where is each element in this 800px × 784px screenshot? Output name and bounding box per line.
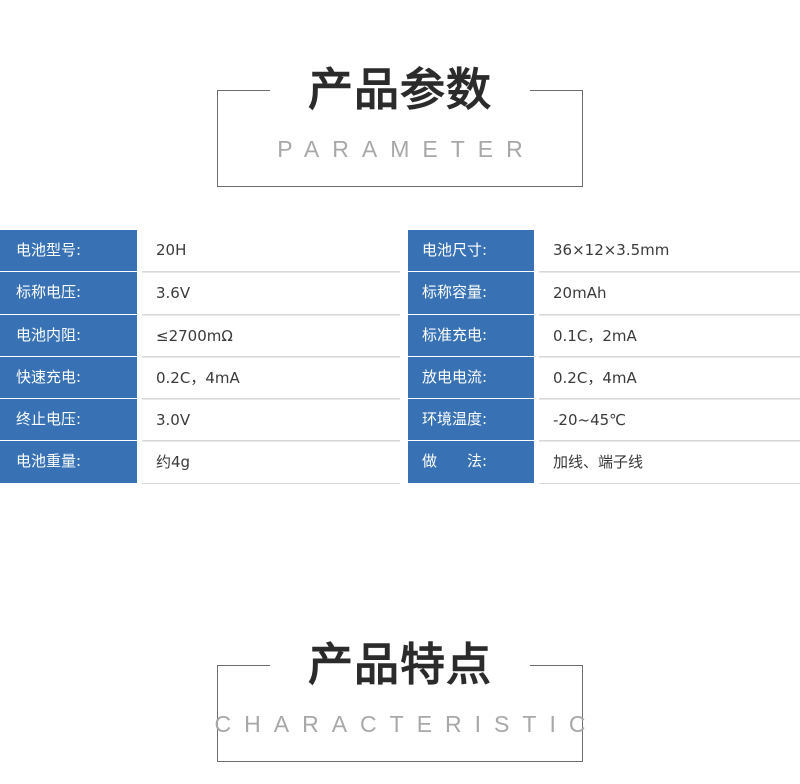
param-label: 电池尺寸: [408, 230, 534, 272]
param-value: 36×12×3.5mm [539, 230, 800, 272]
param-label: 电池重量: [0, 441, 137, 483]
param-label: 电池内阻: [0, 315, 137, 357]
param-value: 20mAh [539, 272, 800, 314]
param-label: 标称容量: [408, 272, 534, 314]
param-value: 3.0V [142, 399, 400, 441]
parameter-table: 电池型号: 20H 电池尺寸: 36×12×3.5mm 标称电压: 3.6V 标… [0, 230, 800, 484]
param-label: 做 法: [408, 441, 534, 483]
table-cell-pair-left: 标称电压: 3.6V [0, 272, 400, 314]
table-cell-pair-left: 电池重量: 约4g [0, 441, 400, 483]
table-row: 快速充电: 0.2C，4mA 放电电流: 0.2C，4mA [0, 357, 800, 399]
table-row: 标称电压: 3.6V 标称容量: 20mAh [0, 272, 800, 314]
table-cell-pair-right: 放电电流: 0.2C，4mA [400, 357, 800, 399]
param-value: 0.2C，4mA [539, 357, 800, 399]
param-label: 电池型号: [0, 230, 137, 272]
section-subtitle-en: CHARACTERISTIC [0, 709, 800, 739]
table-row: 电池内阻: ≤2700mΩ 标准充电: 0.1C，2mA [0, 315, 800, 357]
param-label: 终止电压: [0, 399, 137, 441]
table-cell-pair-right: 电池尺寸: 36×12×3.5mm [400, 230, 800, 272]
param-value: ≤2700mΩ [142, 315, 400, 357]
param-label: 标称电压: [0, 272, 137, 314]
table-cell-pair-right: 标称容量: 20mAh [400, 272, 800, 314]
table-cell-pair-left: 终止电压: 3.0V [0, 399, 400, 441]
table-cell-pair-right: 做 法: 加线、端子线 [400, 441, 800, 483]
table-row: 电池型号: 20H 电池尺寸: 36×12×3.5mm [0, 230, 800, 272]
table-cell-pair-left: 电池内阻: ≤2700mΩ [0, 315, 400, 357]
section-heading-parameter: 产品参数 PARAMETER [0, 22, 800, 152]
param-value: 20H [142, 230, 400, 272]
table-cell-pair-right: 标准充电: 0.1C，2mA [400, 315, 800, 357]
param-value: 3.6V [142, 272, 400, 314]
param-value: 加线、端子线 [539, 441, 800, 483]
table-cell-pair-right: 环境温度: -20~45℃ [400, 399, 800, 441]
param-value: 约4g [142, 441, 400, 483]
table-cell-pair-left: 电池型号: 20H [0, 230, 400, 272]
section-subtitle-en: PARAMETER [0, 134, 800, 164]
param-value: 0.1C，2mA [539, 315, 800, 357]
param-label: 快速充电: [0, 357, 137, 399]
table-row: 终止电压: 3.0V 环境温度: -20~45℃ [0, 399, 800, 441]
section-title-cn: 产品特点 [0, 637, 800, 693]
param-value: -20~45℃ [539, 399, 800, 441]
param-label: 环境温度: [408, 399, 534, 441]
section-heading-characteristic: 产品特点 CHARACTERISTIC [0, 597, 800, 727]
table-cell-pair-left: 快速充电: 0.2C，4mA [0, 357, 400, 399]
table-row: 电池重量: 约4g 做 法: 加线、端子线 [0, 441, 800, 483]
param-label: 标准充电: [408, 315, 534, 357]
section-title-cn: 产品参数 [0, 62, 800, 118]
param-label: 放电电流: [408, 357, 534, 399]
param-value: 0.2C，4mA [142, 357, 400, 399]
